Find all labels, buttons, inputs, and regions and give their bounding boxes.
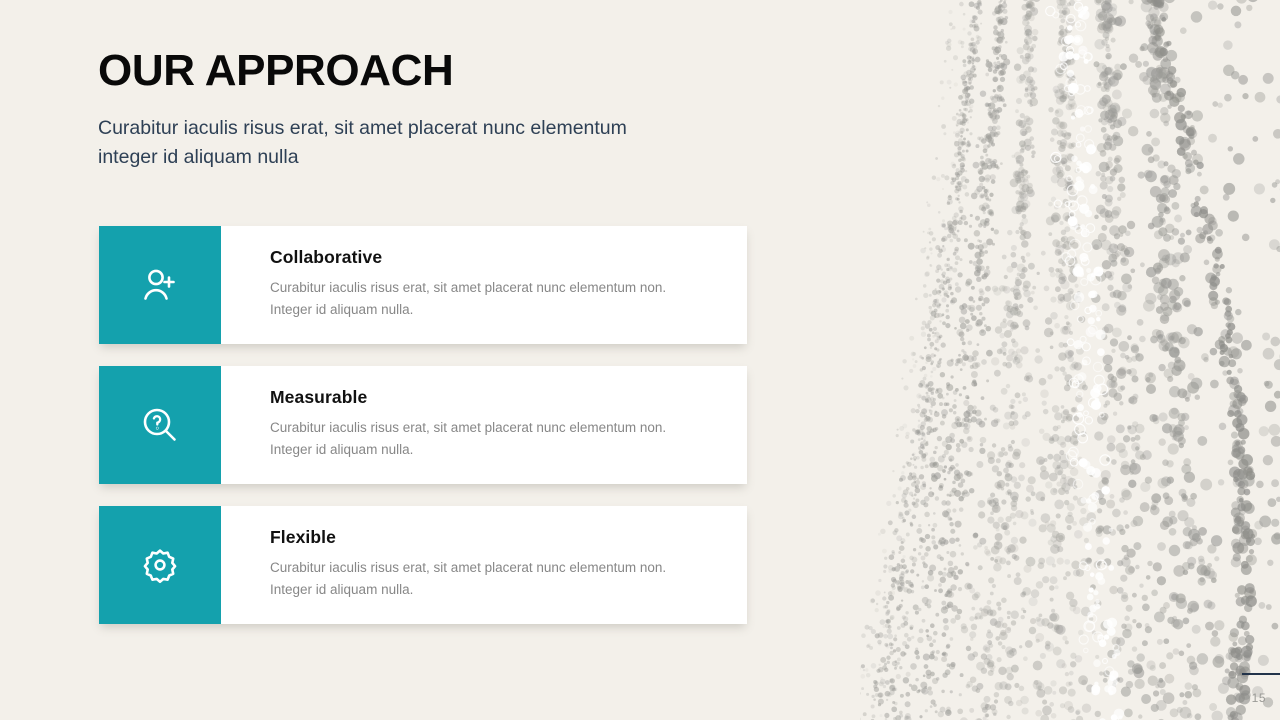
card-icon-panel (99, 226, 221, 344)
card-title: Flexible (270, 527, 727, 548)
feature-card[interactable]: Flexible Curabitur iaculis risus erat, s… (99, 506, 747, 624)
card-icon-panel (99, 506, 221, 624)
feature-card[interactable]: Collaborative Curabitur iaculis risus er… (99, 226, 747, 344)
page-number-rule (1242, 673, 1280, 675)
card-body: Flexible Curabitur iaculis risus erat, s… (221, 506, 747, 624)
card-description: Curabitur iaculis risus erat, sit amet p… (270, 277, 670, 321)
magnifier-question-icon (138, 403, 182, 447)
card-title: Collaborative (270, 247, 727, 268)
page-number: 15 (1252, 691, 1266, 705)
gear-icon (138, 543, 182, 587)
slide-header: OUR APPROACH Curabitur iaculis risus era… (98, 48, 738, 172)
card-title: Measurable (270, 387, 727, 408)
feature-card-list: Collaborative Curabitur iaculis risus er… (99, 226, 747, 624)
card-body: Measurable Curabitur iaculis risus erat,… (221, 366, 747, 484)
feature-card[interactable]: Measurable Curabitur iaculis risus erat,… (99, 366, 747, 484)
particle-dot-field (860, 0, 1280, 720)
card-description: Curabitur iaculis risus erat, sit amet p… (270, 557, 670, 601)
user-plus-icon (138, 263, 182, 307)
card-icon-panel (99, 366, 221, 484)
card-body: Collaborative Curabitur iaculis risus er… (221, 226, 747, 344)
page-subtitle: Curabitur iaculis risus erat, sit amet p… (98, 114, 658, 172)
page-title: OUR APPROACH (98, 48, 738, 94)
slide-canvas: OUR APPROACH Curabitur iaculis risus era… (0, 0, 1280, 720)
card-description: Curabitur iaculis risus erat, sit amet p… (270, 417, 670, 461)
